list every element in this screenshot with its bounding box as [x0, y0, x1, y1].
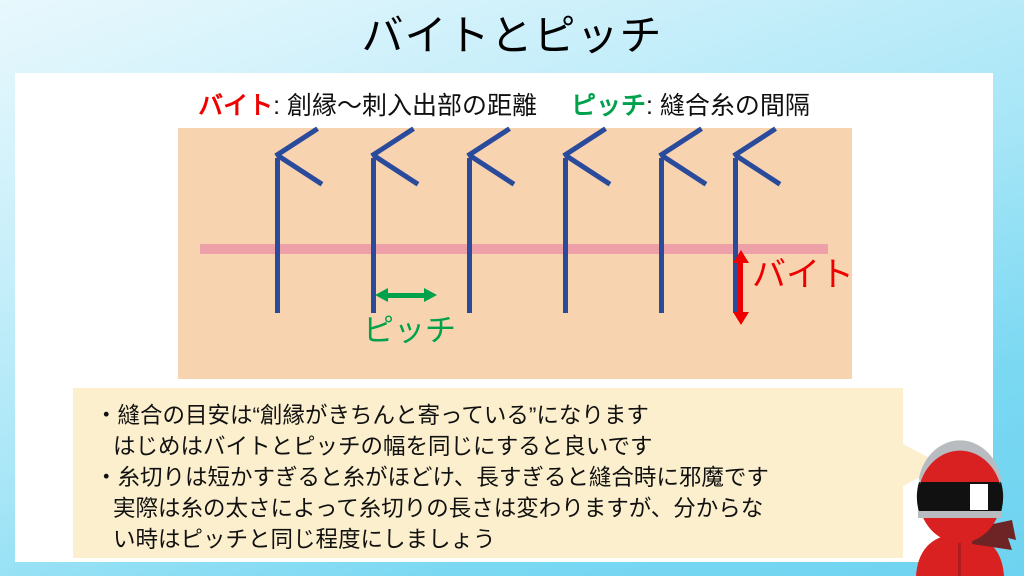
notes-box: ・縫合の目安は“創縁がきちんと寄っている”になります はじめはバイトとピッチの幅…: [73, 388, 903, 558]
stitch-arrow-barb-lower: [735, 154, 781, 187]
mascot-helmet-trim-lower: [918, 511, 1002, 518]
pitch-double-arrow-icon: [375, 288, 437, 302]
page-title: バイトとピッチ: [0, 8, 1024, 64]
stitch-arrow-barb-upper: [370, 127, 415, 158]
bite-arrow-bar: [738, 257, 743, 318]
pitch-description: 縫合糸の間隔: [660, 92, 810, 120]
pitch-arrow-bar: [383, 293, 429, 298]
stitch-shaft: [467, 158, 472, 313]
stitch-arrow-barb-upper: [658, 127, 703, 158]
pitch-separator: :: [646, 92, 660, 120]
content-panel: バイト: 創縁〜刺入出部の距離ピッチ: 縫合糸の間隔: [15, 73, 993, 562]
pitch-term: ピッチ: [571, 92, 646, 120]
note-line: はじめはバイトとピッチの幅を同じにすると良いです: [95, 431, 895, 462]
stitch-shaft: [275, 158, 280, 313]
stitch-arrow-barb-lower: [469, 154, 515, 187]
bite-arrow-head-bottom: [733, 312, 749, 325]
stitch-arrow-barb-lower: [277, 154, 323, 187]
stitch-arrow-barb-upper: [274, 127, 319, 158]
notes-list: ・縫合の目安は“創縁がきちんと寄っている”になります はじめはバイトとピッチの幅…: [95, 400, 895, 555]
stitch-shaft: [563, 158, 568, 313]
mascot-eye-panel: [970, 484, 988, 510]
bite-double-arrow-icon: [733, 250, 749, 325]
stitch-shaft: [659, 158, 664, 313]
bite-separator: :: [273, 92, 287, 120]
bite-label: バイト: [752, 254, 854, 296]
bite-term: バイト: [198, 92, 273, 120]
stitch-arrow-barb-lower: [565, 154, 611, 187]
stitch-arrow-barb-lower: [373, 154, 419, 187]
pitch-arrow-head-right: [424, 288, 437, 302]
skin-diagram-area: ピッチ バイト: [178, 128, 852, 379]
stitch-arrow-barb-lower: [661, 154, 707, 187]
note-line: ・縫合の目安は“創縁がきちんと寄っている”になります: [95, 400, 895, 431]
note-line: い時はピッチと同じ程度にしましょう: [95, 524, 895, 555]
pitch-label: ピッチ: [363, 312, 456, 350]
definition-line: バイト: 創縁〜刺入出部の距離ピッチ: 縫合糸の間隔: [15, 89, 993, 123]
mascot-visor: [917, 482, 1003, 512]
stitch-arrow-barb-upper: [732, 127, 777, 158]
mascot-avatar: [896, 440, 1024, 576]
stitch-arrow-barb-upper: [562, 127, 607, 158]
note-line: 実際は糸の太さによって糸切りの長さは変わりますが、分からな: [95, 493, 895, 524]
bite-description: 創縁〜刺入出部の距離: [287, 92, 537, 120]
stitch-arrow-barb-upper: [466, 127, 511, 158]
slide-canvas: バイトとピッチ バイト: 創縁〜刺入出部の距離ピッチ: 縫合糸の間隔: [0, 0, 1024, 576]
mascot-body-seam: [958, 540, 961, 576]
note-line: ・糸切りは短かすぎると糸がほどけ、長すぎると縫合時に邪魔です: [95, 462, 895, 493]
